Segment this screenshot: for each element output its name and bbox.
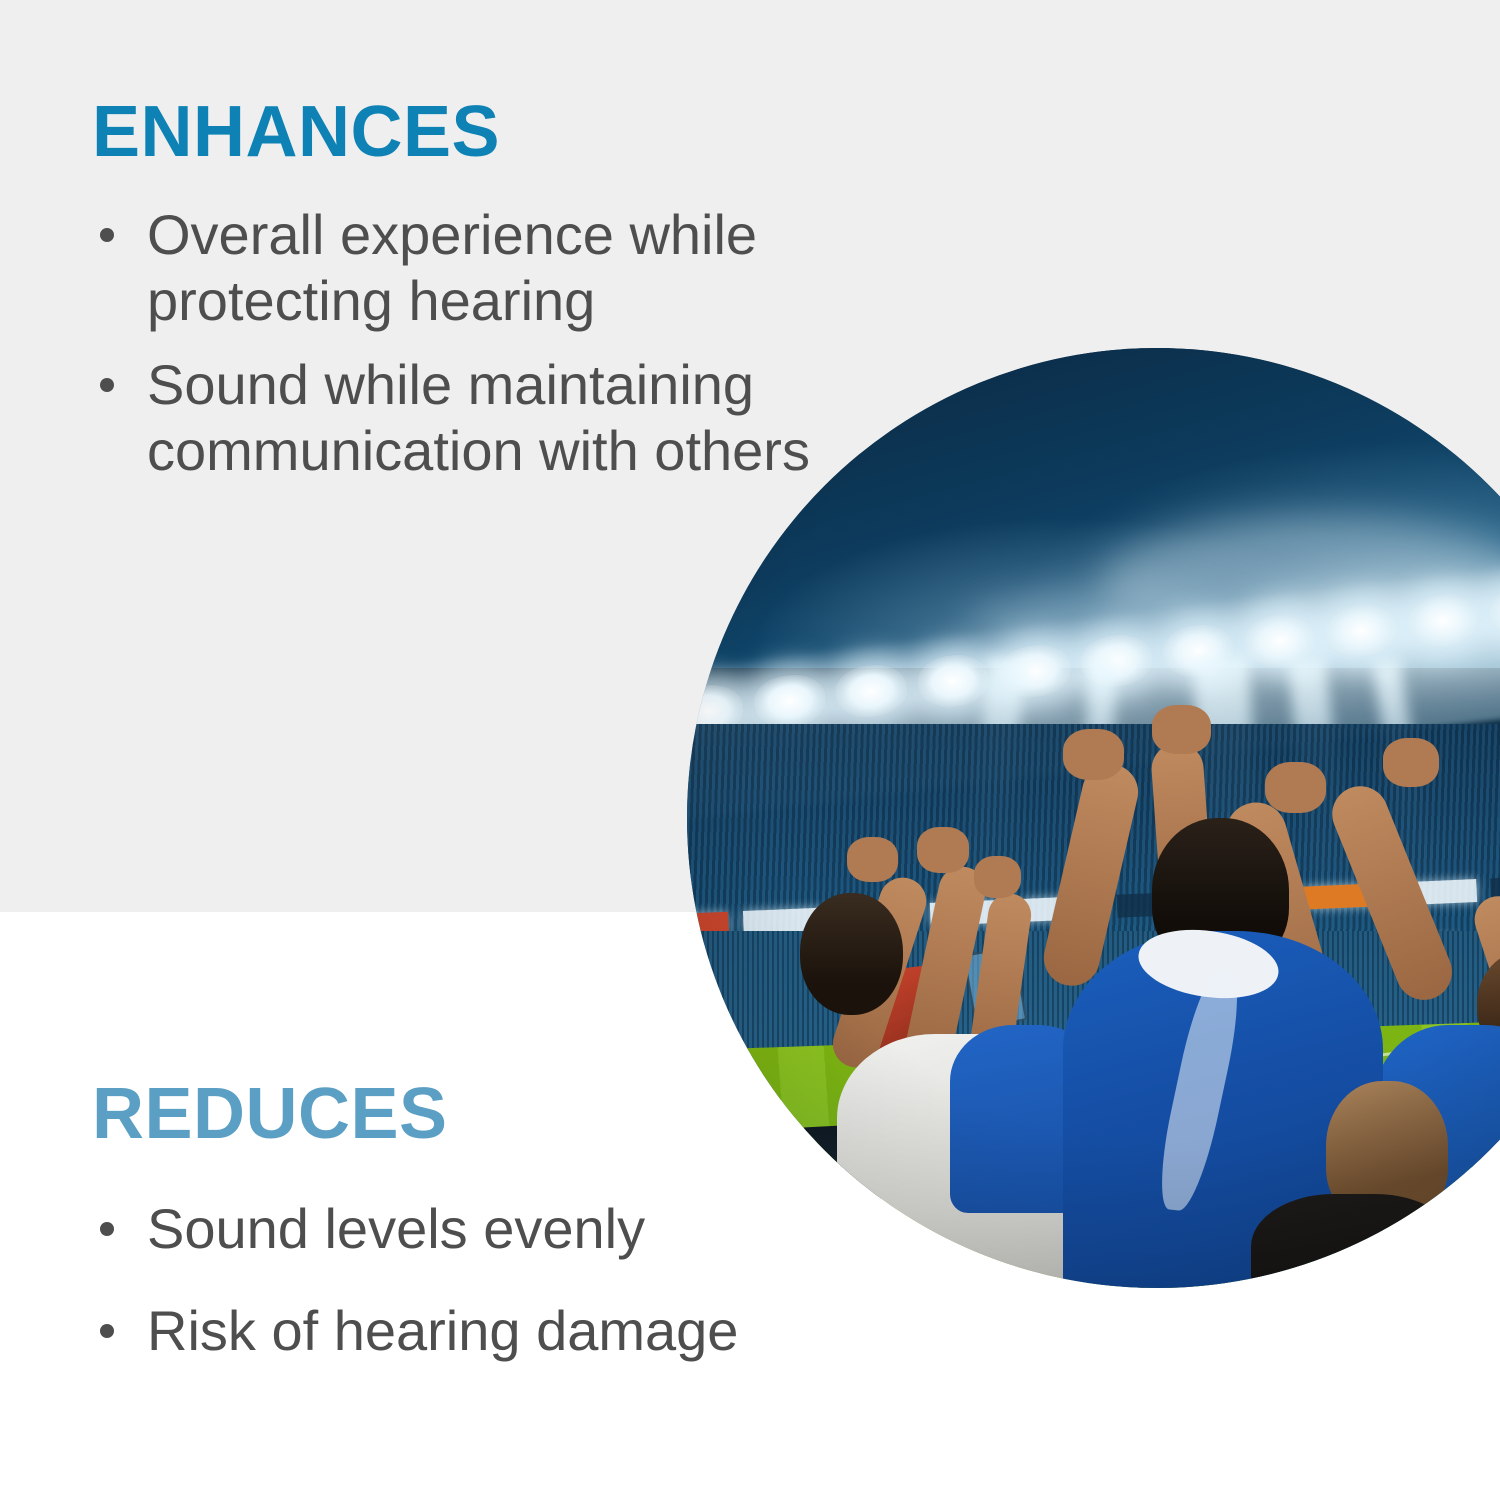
infographic-canvas: ENHANCES Overall experience while protec… xyxy=(0,0,1500,1500)
list-item: Risk of hearing damage xyxy=(92,1298,952,1364)
stadium-crowd-photo xyxy=(687,348,1500,1288)
heading-enhances: ENHANCES xyxy=(92,96,912,168)
fist xyxy=(1063,729,1124,781)
bullet-text: Sound levels evenly xyxy=(147,1197,645,1260)
fan-head xyxy=(800,893,903,1015)
fist xyxy=(847,837,899,882)
fan-shoulder xyxy=(1251,1194,1458,1288)
cheering-fans xyxy=(687,348,1500,1288)
bullet-dot-icon xyxy=(100,378,114,392)
bullet-text: Risk of hearing damage xyxy=(147,1299,738,1362)
fist xyxy=(1383,738,1439,787)
bullet-text: Overall experience while protecting hear… xyxy=(147,203,757,332)
bullet-dot-icon xyxy=(100,1222,114,1236)
list-item: Overall experience while protecting hear… xyxy=(92,202,912,334)
bullet-dot-icon xyxy=(100,1324,114,1338)
fist xyxy=(974,856,1021,898)
fist xyxy=(1265,762,1326,814)
bullet-dot-icon xyxy=(100,228,114,242)
photo-inner xyxy=(687,348,1500,1288)
fist xyxy=(1152,705,1210,754)
fist xyxy=(917,827,969,872)
